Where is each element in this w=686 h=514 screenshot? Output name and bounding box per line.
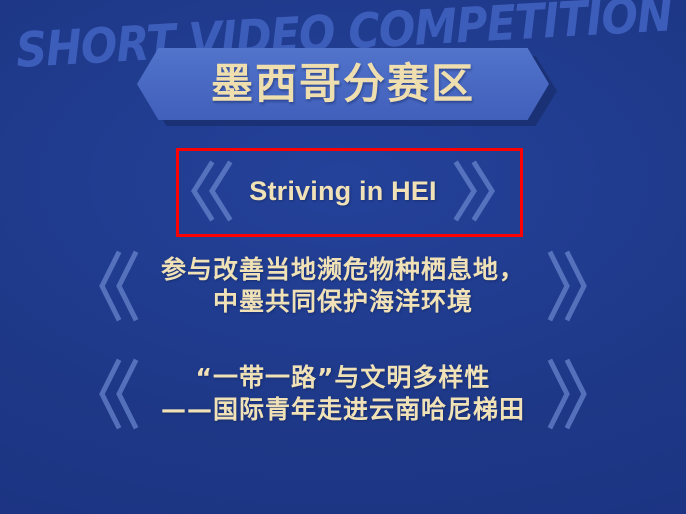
headline-row: Striving in HEI [0,160,686,222]
body-block-2: “一带一路”与文明多样性 ——国际青年走进云南哈尼梯田 [0,358,686,430]
double-chevron-right-icon [453,160,497,222]
double-chevron-right-icon [547,358,589,430]
headline-text: Striving in HEI [233,174,453,209]
double-chevron-right-icon [547,250,589,322]
title-banner: 墨西哥分赛区 [137,48,549,120]
page-title: 墨西哥分赛区 [211,63,475,105]
body-block-2-text: “一带一路”与文明多样性 ——国际青年走进云南哈尼梯田 [139,362,547,426]
body-block-1-text: 参与改善当地濒危物种栖息地， 中墨共同保护海洋环境 [139,254,547,318]
title-banner-shape: 墨西哥分赛区 [137,48,549,120]
slide-canvas: SHORT VIDEO COMPETITION 墨西哥分赛区 Striving … [0,0,686,514]
double-chevron-left-icon [97,358,139,430]
double-chevron-left-icon [189,160,233,222]
double-chevron-left-icon [97,250,139,322]
body-block-1: 参与改善当地濒危物种栖息地， 中墨共同保护海洋环境 [0,250,686,322]
